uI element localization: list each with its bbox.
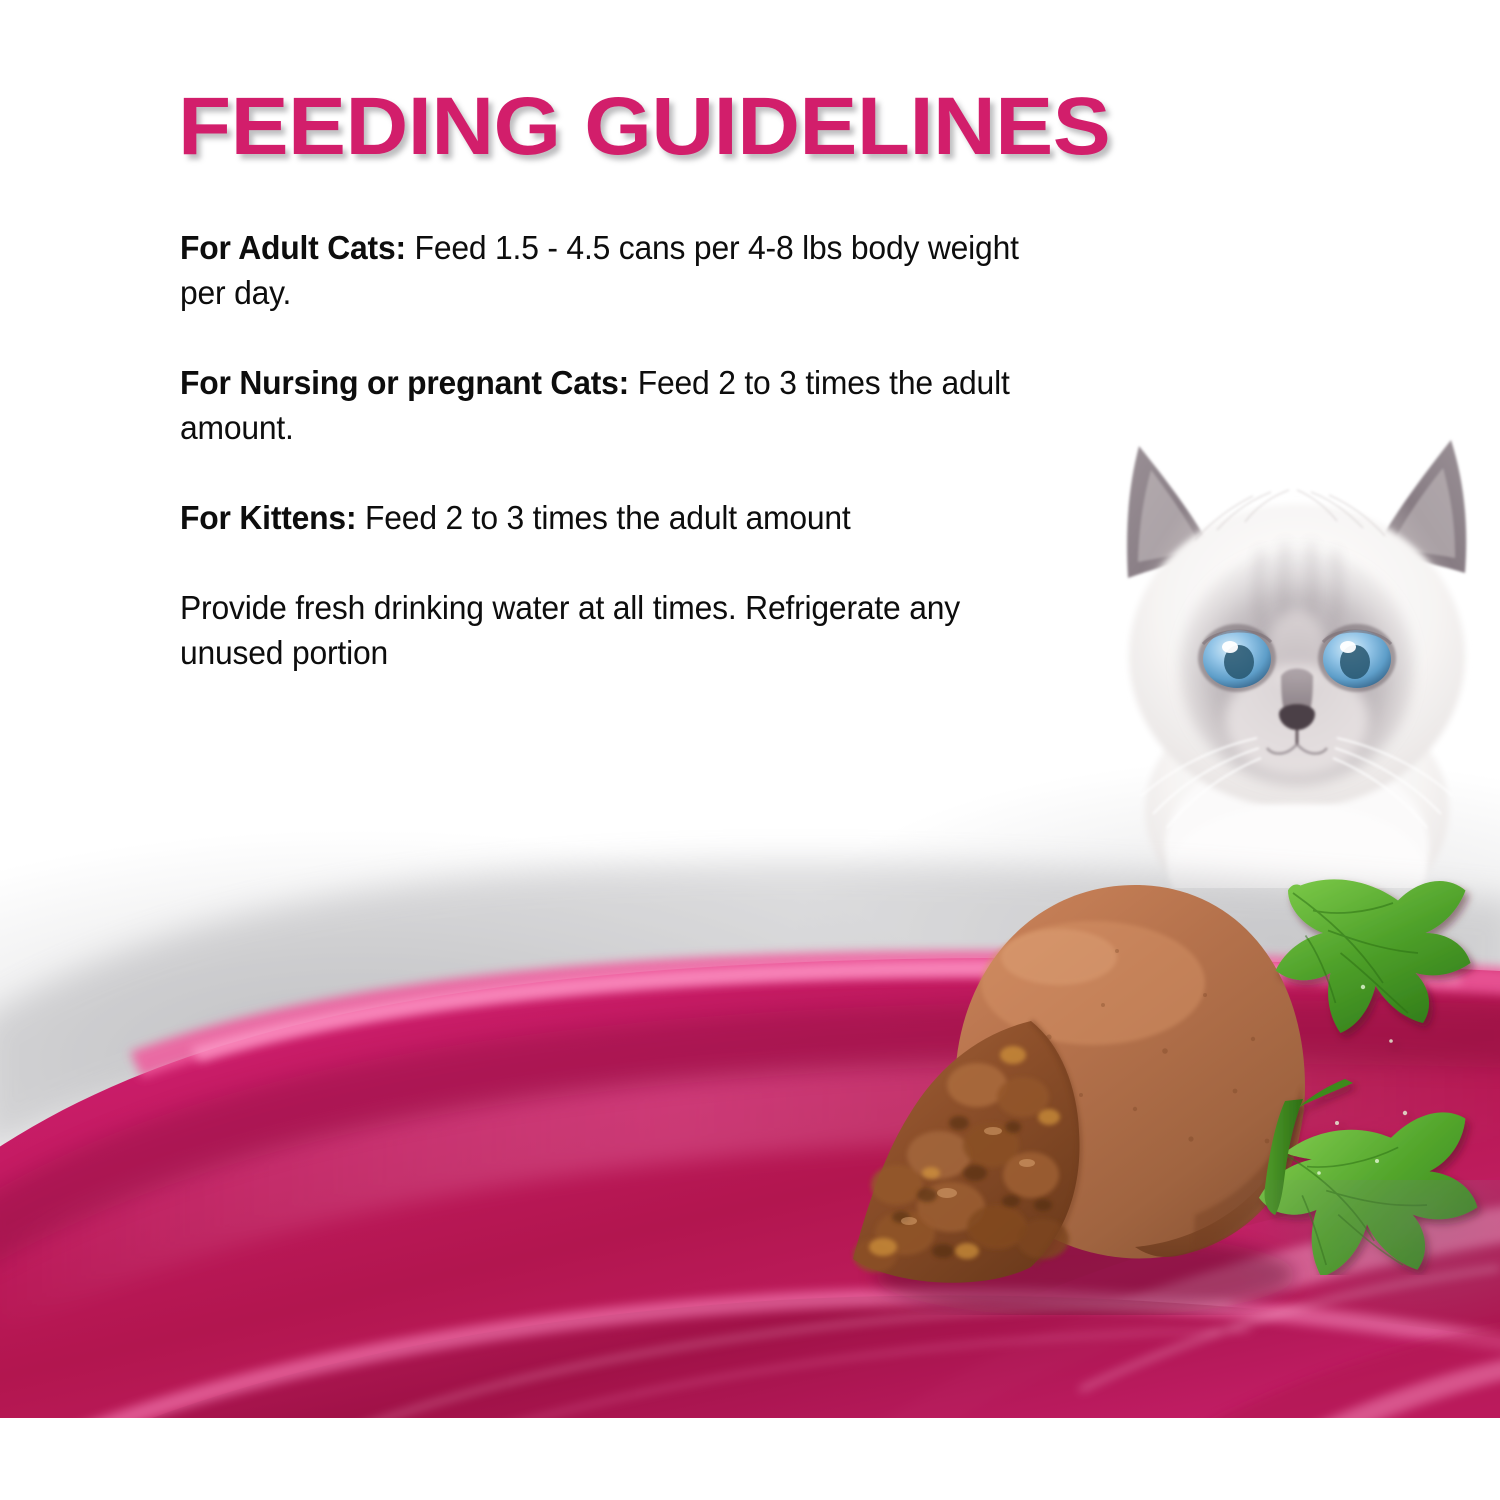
- guideline-label-kittens: For Kittens:: [180, 499, 356, 536]
- guideline-text-kittens: Feed 2 to 3 times the adult amount: [356, 499, 850, 536]
- feeding-guidelines-panel: FEEDING GUIDELINES For Adult Cats: Feed …: [0, 0, 1500, 1500]
- page-title: FEEDING GUIDELINES: [178, 86, 1110, 168]
- bottom-white-band: [0, 1418, 1500, 1500]
- parsley-garnish-image: [1245, 855, 1500, 1275]
- guideline-adult-cats: For Adult Cats: Feed 1.5 - 4.5 cans per …: [180, 225, 1068, 315]
- guideline-kittens: For Kittens: Feed 2 to 3 times the adult…: [180, 495, 1087, 540]
- guideline-label-nursing: For Nursing or pregnant Cats:: [180, 364, 629, 401]
- guideline-label-adult: For Adult Cats:: [180, 229, 406, 266]
- guideline-nursing-pregnant-cats: For Nursing or pregnant Cats: Feed 2 to …: [180, 360, 1077, 450]
